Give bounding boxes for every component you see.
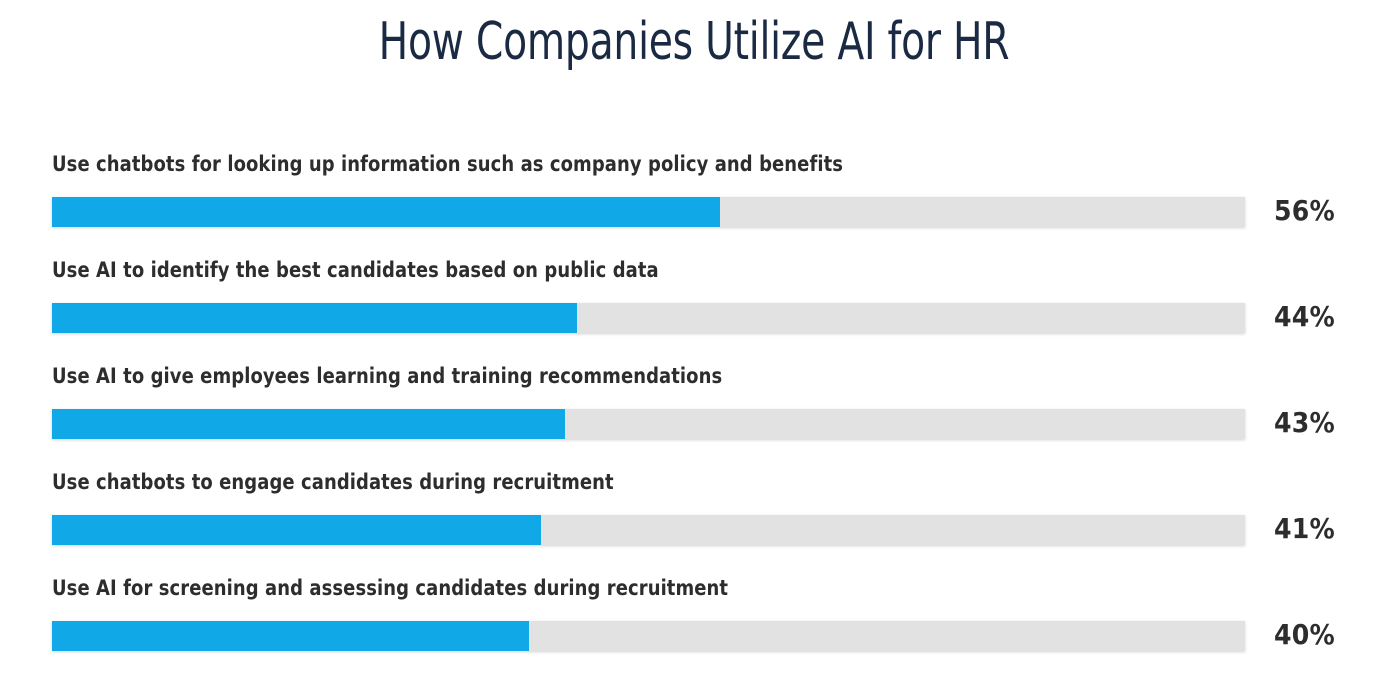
bar-fill (52, 621, 529, 651)
bar-track-wrapper (52, 515, 1245, 545)
bar-fill (52, 409, 565, 439)
bar-row-label: Use AI to give employees learning and tr… (52, 364, 722, 388)
bar-row-value: 41% (1274, 512, 1335, 545)
bar-track (52, 515, 1245, 545)
bar-row: Use chatbots to engage candidates during… (0, 470, 1388, 576)
bar-row-label: Use chatbots for looking up information … (52, 152, 843, 176)
bar-chart-rows: Use chatbots for looking up information … (0, 152, 1388, 682)
bar-track (52, 621, 1245, 651)
bar-row-label: Use AI to identify the best candidates b… (52, 258, 659, 282)
bar-track-wrapper (52, 303, 1245, 333)
bar-row-value: 43% (1274, 406, 1335, 439)
bar-row-label: Use chatbots to engage candidates during… (52, 470, 614, 494)
bar-track-wrapper (52, 621, 1245, 651)
bar-track (52, 197, 1245, 227)
bar-row: Use AI to give employees learning and tr… (0, 364, 1388, 470)
bar-row: Use chatbots for looking up information … (0, 152, 1388, 258)
chart-canvas: How Companies Utilize AI for HR Use chat… (0, 0, 1388, 680)
page-title: How Companies Utilize AI for HR (111, 14, 1277, 71)
bar-row-value: 56% (1274, 194, 1335, 227)
bar-fill (52, 303, 577, 333)
bar-row: Use AI to identify the best candidates b… (0, 258, 1388, 364)
bar-row-value: 40% (1274, 618, 1335, 651)
bar-row-value: 44% (1274, 300, 1335, 333)
bar-track-wrapper (52, 409, 1245, 439)
bar-row: Use AI for screening and assessing candi… (0, 576, 1388, 682)
bar-row-label: Use AI for screening and assessing candi… (52, 576, 728, 600)
bar-track (52, 303, 1245, 333)
bar-track-wrapper (52, 197, 1245, 227)
bar-track (52, 409, 1245, 439)
bar-fill (52, 197, 720, 227)
bar-fill (52, 515, 541, 545)
